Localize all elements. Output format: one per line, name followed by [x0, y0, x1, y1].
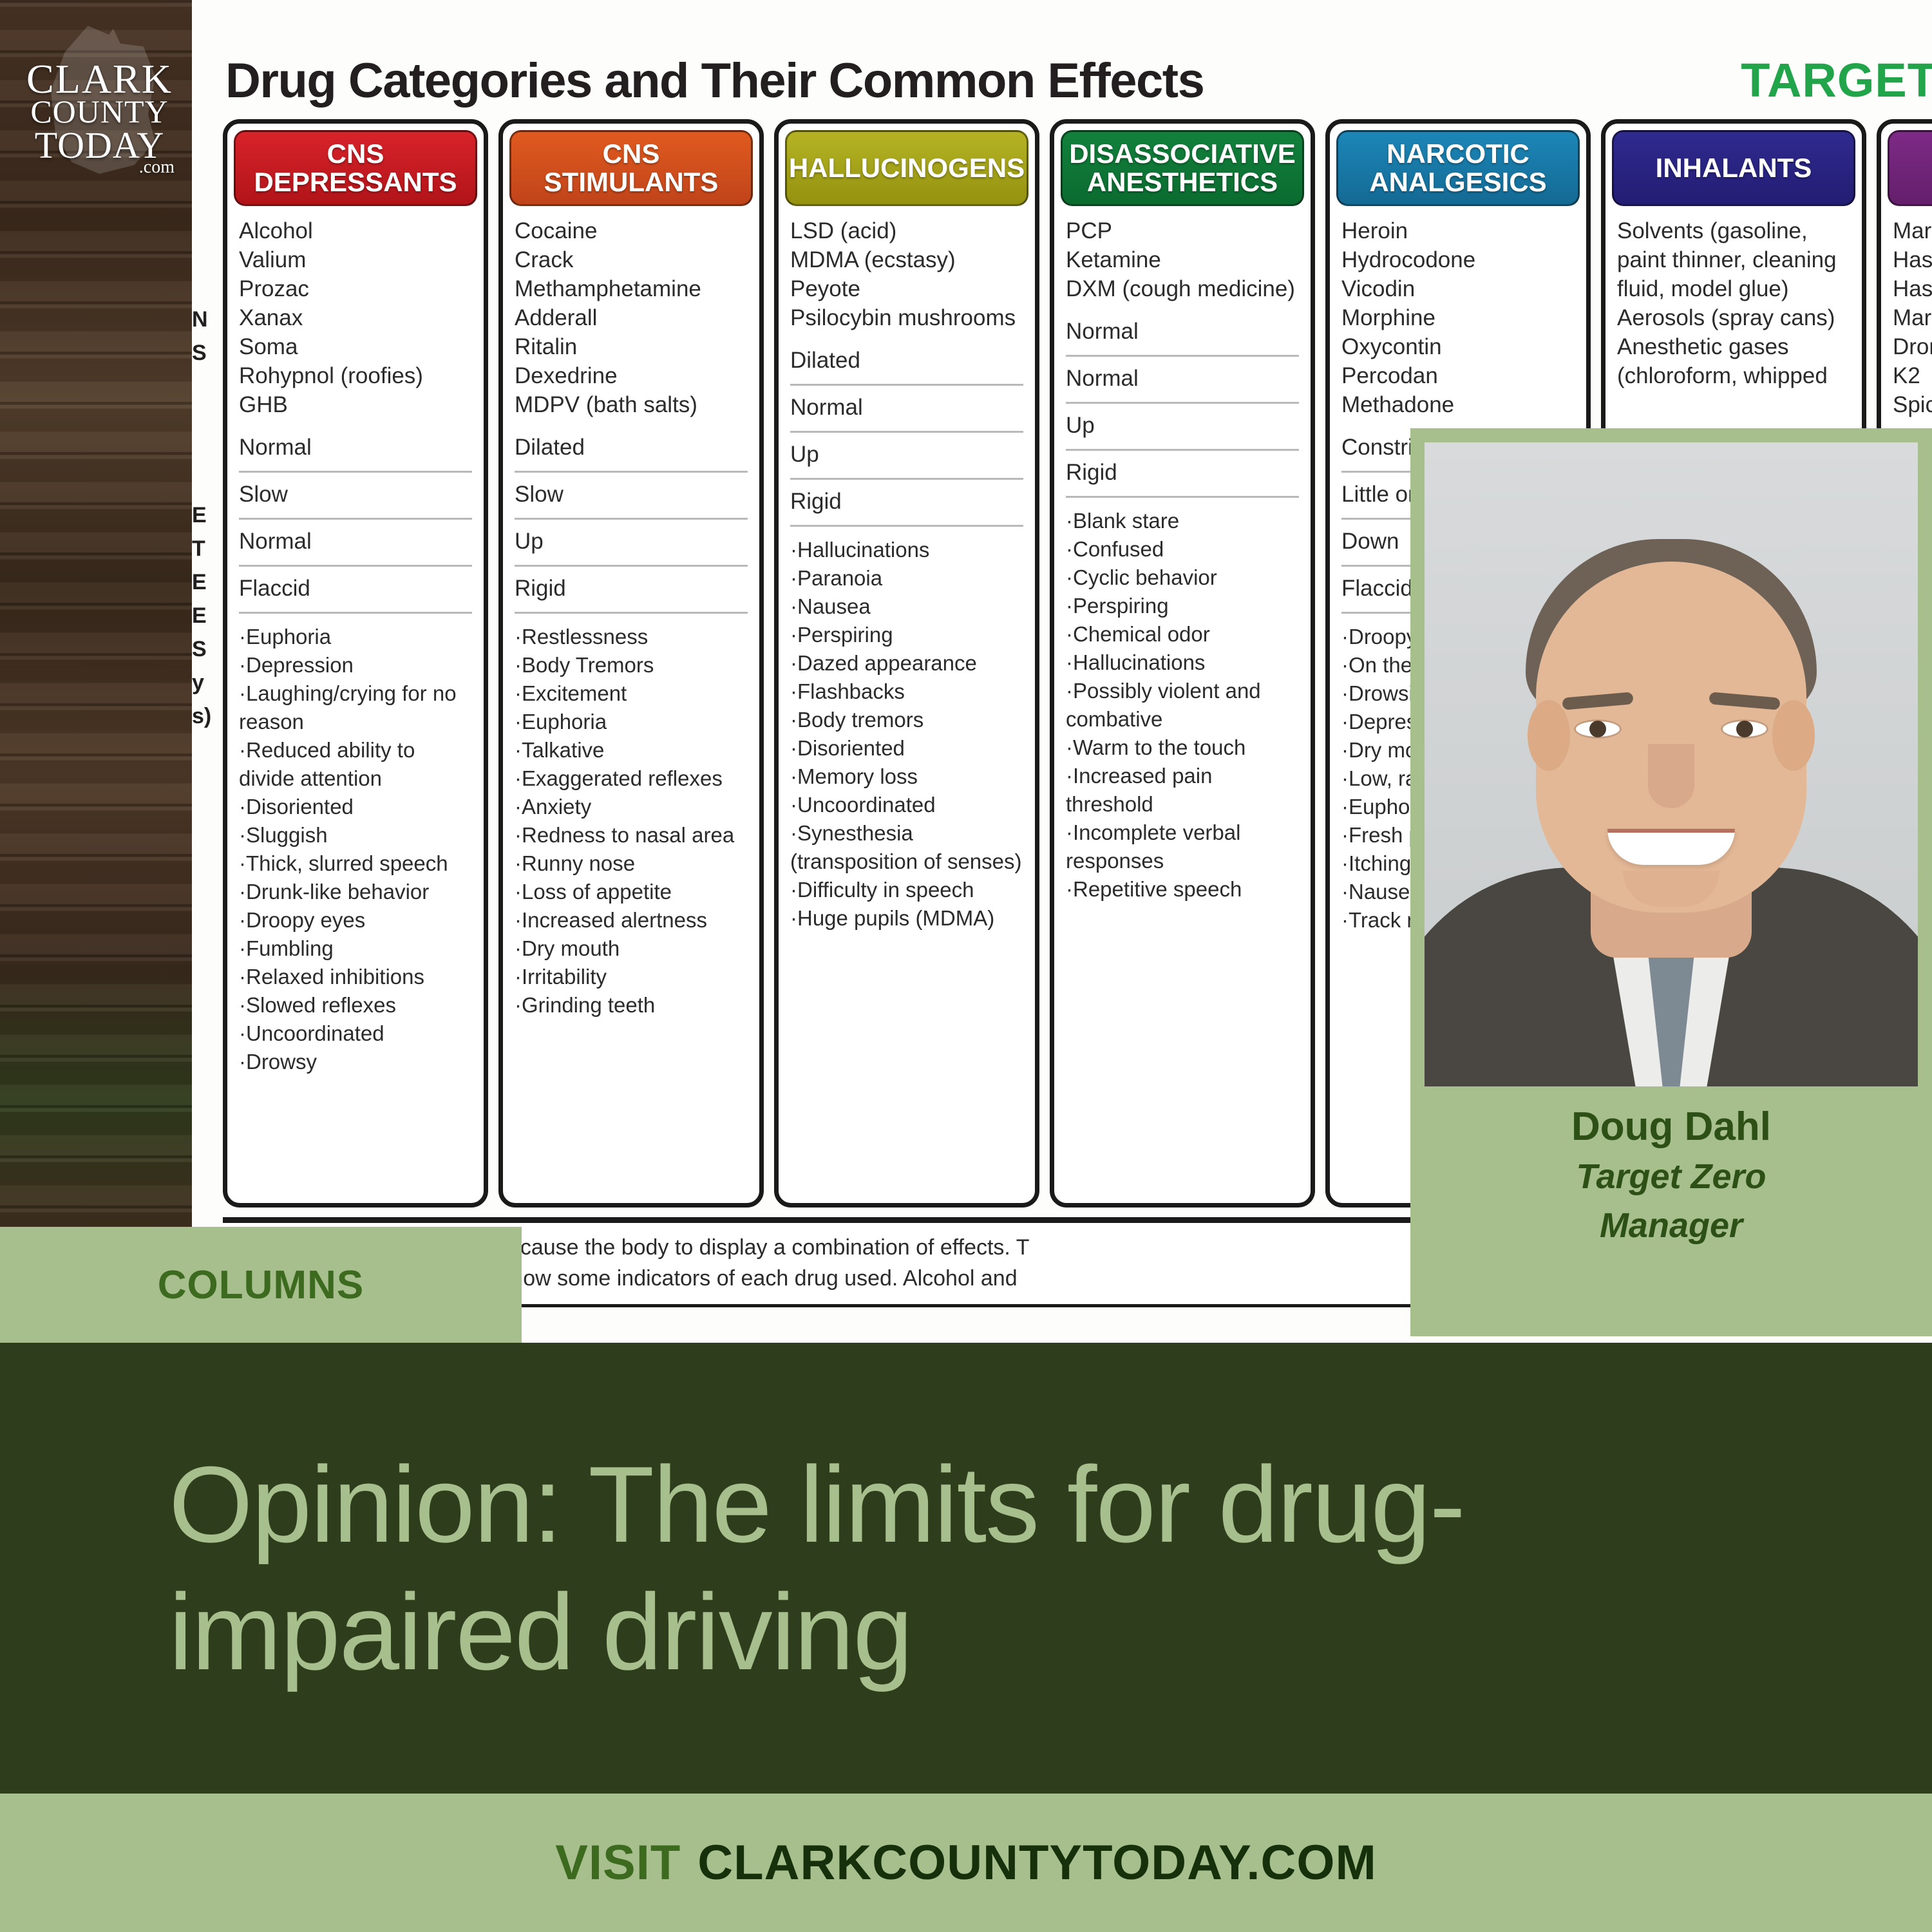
category-bar-label: COLUMNS — [158, 1262, 364, 1308]
drug-item: LSD (acid) — [790, 216, 1023, 245]
indicator-value: Normal — [1066, 317, 1299, 357]
drug-item: Anesthetic gases (chloroform, whipped — [1617, 332, 1850, 390]
indicator-value: Normal — [790, 393, 1023, 433]
effect-item: ·Anxiety — [515, 793, 748, 821]
category-header: DISASSOCIATIVE ANESTHETICS — [1061, 130, 1304, 206]
target-zero-wordmark: TARGET — [1741, 53, 1932, 108]
drug-item: Soma — [239, 332, 472, 361]
effect-item: ·Dry mouth — [515, 934, 748, 963]
drug-item: Hash oil — [1893, 274, 1932, 303]
drug-item: Marijua — [1893, 216, 1932, 245]
effect-item: ·Flashbacks — [790, 677, 1023, 706]
indicator-value: Normal — [1066, 365, 1299, 404]
category-header: NARCOTIC ANALGESICS — [1336, 130, 1580, 206]
indicator-value: Rigid — [790, 488, 1023, 527]
drug-item: Peyote — [790, 274, 1023, 303]
effect-item: ·Disoriented — [239, 793, 472, 821]
effect-item: ·Memory loss — [790, 762, 1023, 791]
drug-item: Dronab — [1893, 332, 1932, 361]
indicator-value: Normal — [239, 527, 472, 567]
effect-item: ·Difficulty in speech — [790, 876, 1023, 904]
category-header: CNS DEPRESSANTS — [234, 130, 477, 206]
effect-item: ·Paranoia — [790, 564, 1023, 592]
headline-block: Opinion: The limits for drug-impaired dr… — [0, 1343, 1932, 1794]
drug-item: Crack — [515, 245, 748, 274]
indicator-value: Up — [1066, 412, 1299, 451]
effect-item: ·Perspiring — [1066, 592, 1299, 620]
drug-item: Vicodin — [1341, 274, 1575, 303]
drug-item: Hash — [1893, 245, 1932, 274]
indicator-list: DilatedSlowUpRigid — [515, 433, 748, 614]
drug-item: Prozac — [239, 274, 472, 303]
drug-item: Aerosols (spray cans) — [1617, 303, 1850, 332]
category-column: CNS STIMULANTSCocaineCrackMethamphetamin… — [498, 119, 764, 1207]
effects-list: ·Restlessness·Body Tremors·Excitement·Eu… — [515, 623, 748, 1019]
drug-list: LSD (acid)MDMA (ecstasy)PeyotePsilocybin… — [790, 216, 1023, 332]
effect-item: ·Huge pupils (MDMA) — [790, 904, 1023, 933]
effect-item: ·Reduced ability to divide attention — [239, 736, 472, 793]
drug-item: Spice — [1893, 390, 1932, 419]
effect-item: ·Droopy eyes — [239, 906, 472, 934]
category-body: Solvents (gasoline, paint thinner, clean… — [1605, 206, 1862, 397]
effect-item: ·Depression — [239, 651, 472, 679]
indicator-value: Rigid — [515, 574, 748, 614]
drug-list: Solvents (gasoline, paint thinner, clean… — [1617, 216, 1850, 390]
drug-item: Xanax — [239, 303, 472, 332]
effect-item: ·Chemical odor — [1066, 620, 1299, 649]
effect-item: ·Incomplete verbal responses — [1066, 819, 1299, 875]
author-photo — [1425, 442, 1918, 1086]
author-caption: Doug Dahl Target Zero Manager — [1410, 1086, 1932, 1247]
drug-item: Adderall — [515, 303, 748, 332]
effects-list: ·Hallucinations·Paranoia·Nausea·Perspiri… — [790, 536, 1023, 933]
effect-item: ·Drowsy — [239, 1048, 472, 1076]
category-body: CocaineCrackMethamphetamineAdderallRital… — [503, 206, 759, 1026]
effect-item: ·Hallucinations — [1066, 649, 1299, 677]
effect-item: ·Uncoordinated — [790, 791, 1023, 819]
drug-item: GHB — [239, 390, 472, 419]
category-header: CNS STIMULANTS — [509, 130, 753, 206]
drug-item: DXM (cough medicine) — [1066, 274, 1299, 303]
footer-domain: CLARKCOUNTYTODAY.COM — [697, 1835, 1377, 1891]
drug-item: Morphine — [1341, 303, 1575, 332]
category-header: CA — [1888, 130, 1932, 206]
indicator-value: Dilated — [515, 433, 748, 473]
footer-visit-label: VISIT — [555, 1835, 681, 1891]
category-header-label: HALLUCINOGENS — [789, 154, 1025, 182]
indicator-value: Slow — [515, 480, 748, 520]
indicator-value: Up — [515, 527, 748, 567]
drug-item: Heroin — [1341, 216, 1575, 245]
category-body: MarijuaHashHash oilMarinolDronabK2Spice — [1881, 206, 1932, 426]
effect-item: ·Blank stare — [1066, 507, 1299, 535]
effect-item: ·Relaxed inhibitions — [239, 963, 472, 991]
drug-list: HeroinHydrocodoneVicodinMorphineOxyconti… — [1341, 216, 1575, 419]
effect-item: ·Thick, slurred speech — [239, 849, 472, 878]
effect-item: ·Loss of appetite — [515, 878, 748, 906]
category-column: CNS DEPRESSANTSAlcoholValiumProzacXanaxS… — [223, 119, 488, 1207]
effect-item: ·Possibly violent and combative — [1066, 677, 1299, 734]
drug-item: Dexedrine — [515, 361, 748, 390]
drug-item: Rohypnol (roofies) — [239, 361, 472, 390]
indicator-value: Flaccid — [239, 574, 472, 614]
category-body: PCPKetamineDXM (cough medicine)NormalNor… — [1054, 206, 1311, 910]
author-portrait-card: Doug Dahl Target Zero Manager — [1410, 428, 1932, 1336]
effect-item: ·Confused — [1066, 535, 1299, 563]
category-header-label: CNS STIMULANTS — [515, 140, 747, 196]
drug-item: Methamphetamine — [515, 274, 748, 303]
effect-item: ·Cyclic behavior — [1066, 563, 1299, 592]
drug-list: AlcoholValiumProzacXanaxSomaRohypnol (ro… — [239, 216, 472, 419]
drug-item: Hydrocodone — [1341, 245, 1575, 274]
effect-item: ·Increased alertness — [515, 906, 748, 934]
effect-item: ·Dazed appearance — [790, 649, 1023, 677]
effect-item: ·Disoriented — [790, 734, 1023, 762]
drug-list: PCPKetamineDXM (cough medicine) — [1066, 216, 1299, 303]
indicator-list: NormalSlowNormalFlaccid — [239, 433, 472, 614]
clark-county-today-logo[interactable]: CLARK COUNTY TODAY .com — [14, 31, 185, 169]
effect-item: ·Increased pain threshold — [1066, 762, 1299, 819]
drug-item: PCP — [1066, 216, 1299, 245]
effect-item: ·Body tremors — [790, 706, 1023, 734]
effect-item: ·Redness to nasal area — [515, 821, 748, 849]
headline-text: Opinion: The limits for drug-impaired dr… — [0, 1441, 1932, 1696]
effect-item: ·Grinding teeth — [515, 991, 748, 1019]
drug-item: Solvents (gasoline, paint thinner, clean… — [1617, 216, 1850, 303]
drug-list: MarijuaHashHash oilMarinolDronabK2Spice — [1893, 216, 1932, 419]
author-role-line-2: Manager — [1417, 1206, 1926, 1247]
drug-item: Marinol — [1893, 303, 1932, 332]
category-header-label: DISASSOCIATIVE ANESTHETICS — [1066, 140, 1298, 196]
drug-item: MDMA (ecstasy) — [790, 245, 1023, 274]
indicator-value: Up — [790, 440, 1023, 480]
effect-item: ·Slowed reflexes — [239, 991, 472, 1019]
effect-item: ·Fumbling — [239, 934, 472, 963]
effect-item: ·Talkative — [515, 736, 748, 764]
drug-item: Psilocybin mushrooms — [790, 303, 1023, 332]
drug-item: Oxycontin — [1341, 332, 1575, 361]
category-column: HALLUCINOGENSLSD (acid)MDMA (ecstasy)Pey… — [774, 119, 1039, 1207]
indicator-value: Normal — [239, 433, 472, 473]
drug-item: K2 — [1893, 361, 1932, 390]
indicator-list: NormalNormalUpRigid — [1066, 317, 1299, 498]
drug-item: Ketamine — [1066, 245, 1299, 274]
effect-item: ·Warm to the touch — [1066, 734, 1299, 762]
drug-item: Percodan — [1341, 361, 1575, 390]
indicator-value: Slow — [239, 480, 472, 520]
effect-item: ·Excitement — [515, 679, 748, 708]
effect-item: ·Euphoria — [515, 708, 748, 736]
category-column: DISASSOCIATIVE ANESTHETICSPCPKetamineDXM… — [1050, 119, 1315, 1207]
footer-bar[interactable]: VISIT CLARKCOUNTYTODAY.COM — [0, 1794, 1932, 1932]
effect-item: ·Nausea — [790, 592, 1023, 621]
effect-item: ·Synesthesia (transposition of senses) — [790, 819, 1023, 876]
drug-item: Ritalin — [515, 332, 748, 361]
category-body: LSD (acid)MDMA (ecstasy)PeyotePsilocybin… — [779, 206, 1035, 939]
effects-list: ·Blank stare·Confused·Cyclic behavior·Pe… — [1066, 507, 1299, 904]
drug-item: Cocaine — [515, 216, 748, 245]
effect-item: ·Uncoordinated — [239, 1019, 472, 1048]
category-header-label: INHALANTS — [1656, 154, 1812, 182]
logo-dotcom: .com — [139, 157, 175, 178]
effect-item: ·Hallucinations — [790, 536, 1023, 564]
effect-item: ·Laughing/crying for no reason — [239, 679, 472, 736]
effect-item: ·Restlessness — [515, 623, 748, 651]
effect-item: ·Repetitive speech — [1066, 875, 1299, 904]
category-header-label: NARCOTIC ANALGESICS — [1342, 140, 1574, 196]
author-role-line-1: Target Zero — [1417, 1157, 1926, 1198]
drug-item: MDPV (bath salts) — [515, 390, 748, 419]
category-header: INHALANTS — [1612, 130, 1855, 206]
effect-item: ·Exaggerated reflexes — [515, 764, 748, 793]
effect-item: ·Sluggish — [239, 821, 472, 849]
author-name: Doug Dahl — [1417, 1104, 1926, 1149]
effect-item: ·Perspiring — [790, 621, 1023, 649]
drug-list: CocaineCrackMethamphetamineAdderallRital… — [515, 216, 748, 419]
indicator-list: DilatedNormalUpRigid — [790, 346, 1023, 527]
effect-item: ·Irritability — [515, 963, 748, 991]
indicator-value: Dilated — [790, 346, 1023, 386]
drug-item: Valium — [239, 245, 472, 274]
effect-item: ·Runny nose — [515, 849, 748, 878]
infographic-title: Drug Categories and Their Common Effects — [225, 53, 1204, 109]
effect-item: ·Body Tremors — [515, 651, 748, 679]
drug-item: Alcohol — [239, 216, 472, 245]
category-header: HALLUCINOGENS — [785, 130, 1028, 206]
effects-list: ·Euphoria·Depression·Laughing/crying for… — [239, 623, 472, 1076]
indicator-value: Rigid — [1066, 459, 1299, 498]
category-bar-columns[interactable]: COLUMNS — [0, 1227, 522, 1343]
effect-item: ·Drunk-like behavior — [239, 878, 472, 906]
category-body: AlcoholValiumProzacXanaxSomaRohypnol (ro… — [227, 206, 484, 1083]
category-header-label: CNS DEPRESSANTS — [240, 140, 471, 196]
drug-item: Methadone — [1341, 390, 1575, 419]
effect-item: ·Euphoria — [239, 623, 472, 651]
